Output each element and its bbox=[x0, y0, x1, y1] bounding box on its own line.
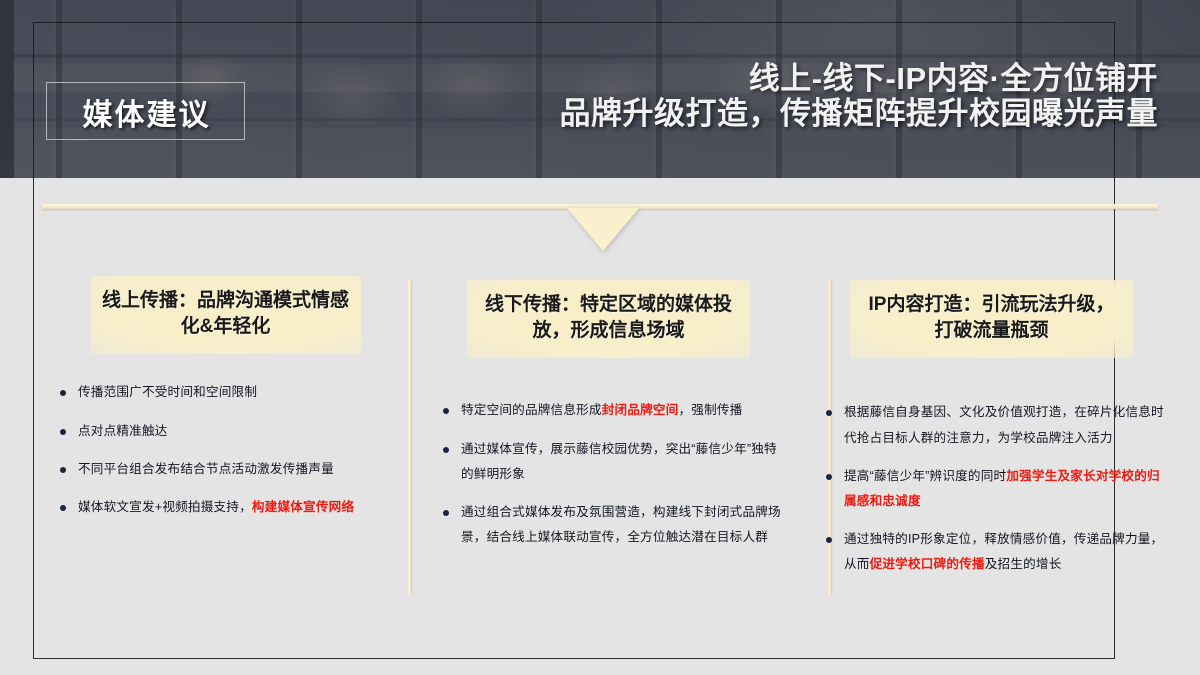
highlighted-text: 促进学校口碑的传播 bbox=[870, 557, 985, 571]
bullet-item: 提高“藤信少年”辨识度的同时加强学生及家长对学校的归属感和忠诚度 bbox=[824, 464, 1169, 514]
bullet-text: 及招生的增长 bbox=[985, 557, 1062, 571]
page-title: 线上-线下-IP内容·全方位铺开 品牌升级打造，传播矩阵提升校园曝光声量 bbox=[560, 62, 1159, 131]
bullet-text: 点对点精准触达 bbox=[78, 424, 168, 438]
column-bullets: 特定空间的品牌信息形成封闭品牌空间，强制传播通过媒体宣传，展示藤信校园优势，突出… bbox=[431, 398, 786, 550]
bullet-item: 不同平台组合发布结合节点活动激发传播声量 bbox=[58, 457, 403, 482]
bullet-text: 通过媒体宣传，展示藤信校园优势，突出“藤信少年”独特的鲜明形象 bbox=[461, 442, 777, 481]
bullet-text: 不同平台组合发布结合节点活动激发传播声量 bbox=[78, 462, 334, 476]
bullet-item: 媒体软文宣发+视频拍摄支持，构建媒体宣传网络 bbox=[58, 495, 403, 520]
slide-header: 媒体建议 线上-线下-IP内容·全方位铺开 品牌升级打造，传播矩阵提升校园曝光声… bbox=[0, 0, 1200, 178]
bullet-text: 传播范围广不受时间和空间限制 bbox=[78, 385, 257, 399]
page-title-line2: 品牌升级打造，传播矩阵提升校园曝光声量 bbox=[560, 97, 1159, 132]
bullet-item: 通过媒体宣传，展示藤信校园优势，突出“藤信少年”独特的鲜明形象 bbox=[441, 437, 786, 487]
column-heading: 线下传播：特定区域的媒体投放，形成信息场域 bbox=[467, 280, 750, 358]
column-heading: IP内容打造：引流玩法升级，打破流量瓶颈 bbox=[850, 280, 1133, 358]
highlighted-text: 构建媒体宣传网络 bbox=[252, 500, 354, 514]
bullet-text: 媒体软文宣发+视频拍摄支持， bbox=[78, 500, 252, 514]
bullet-item: 通过组合式媒体发布及氛围营造，构建线下封闭式品牌场景，结合线上媒体联动宣传，全方… bbox=[441, 500, 786, 550]
column-offline: 线下传播：特定区域的媒体投放，形成信息场域 特定空间的品牌信息形成封闭品牌空间，… bbox=[417, 262, 800, 622]
bullet-item: 根据藤信自身基因、文化及价值观打造，在碎片化信息时代抢占目标人群的注意力，为学校… bbox=[824, 400, 1169, 450]
down-arrow-icon bbox=[567, 208, 639, 251]
bullet-text: ，强制传播 bbox=[679, 403, 743, 417]
section-badge-label: 媒体建议 bbox=[47, 83, 246, 141]
bullet-item: 传播范围广不受时间和空间限制 bbox=[58, 380, 403, 405]
slide-canvas: 媒体建议 线上-线下-IP内容·全方位铺开 品牌升级打造，传播矩阵提升校园曝光声… bbox=[0, 0, 1200, 675]
page-title-line1: 线上-线下-IP内容·全方位铺开 bbox=[560, 62, 1159, 97]
column-online: 线上传播：品牌沟通模式情感化&年轻化 传播范围广不受时间和空间限制点对点精准触达… bbox=[34, 262, 417, 622]
section-badge: 媒体建议 bbox=[46, 82, 245, 140]
bullet-item: 通过独特的IP形象定位，释放情感价值，传递品牌力量，从而促进学校口碑的传播及招生… bbox=[824, 527, 1169, 577]
bullet-text: 特定空间的品牌信息形成 bbox=[461, 403, 602, 417]
bullet-item: 点对点精准触达 bbox=[58, 419, 403, 444]
column-ip-content: IP内容打造：引流玩法升级，打破流量瓶颈 根据藤信自身基因、文化及价值观打造，在… bbox=[800, 262, 1183, 622]
bullet-text: 通过组合式媒体发布及氛围营造，构建线下封闭式品牌场景，结合线上媒体联动宣传，全方… bbox=[461, 505, 781, 544]
highlighted-text: 封闭品牌空间 bbox=[602, 403, 679, 417]
bullet-text: 提高“藤信少年”辨识度的同时 bbox=[844, 469, 1006, 483]
column-bullets: 根据藤信自身基因、文化及价值观打造，在碎片化信息时代抢占目标人群的注意力，为学校… bbox=[814, 400, 1169, 577]
column-heading: 线上传播：品牌沟通模式情感化&年轻化 bbox=[91, 276, 361, 354]
content-columns: 线上传播：品牌沟通模式情感化&年轻化 传播范围广不受时间和空间限制点对点精准触达… bbox=[34, 262, 1184, 622]
column-bullets: 传播范围广不受时间和空间限制点对点精准触达不同平台组合发布结合节点活动激发传播声… bbox=[48, 380, 403, 520]
bullet-item: 特定空间的品牌信息形成封闭品牌空间，强制传播 bbox=[441, 398, 786, 423]
bullet-text: 根据藤信自身基因、文化及价值观打造，在碎片化信息时代抢占目标人群的注意力，为学校… bbox=[844, 405, 1164, 444]
